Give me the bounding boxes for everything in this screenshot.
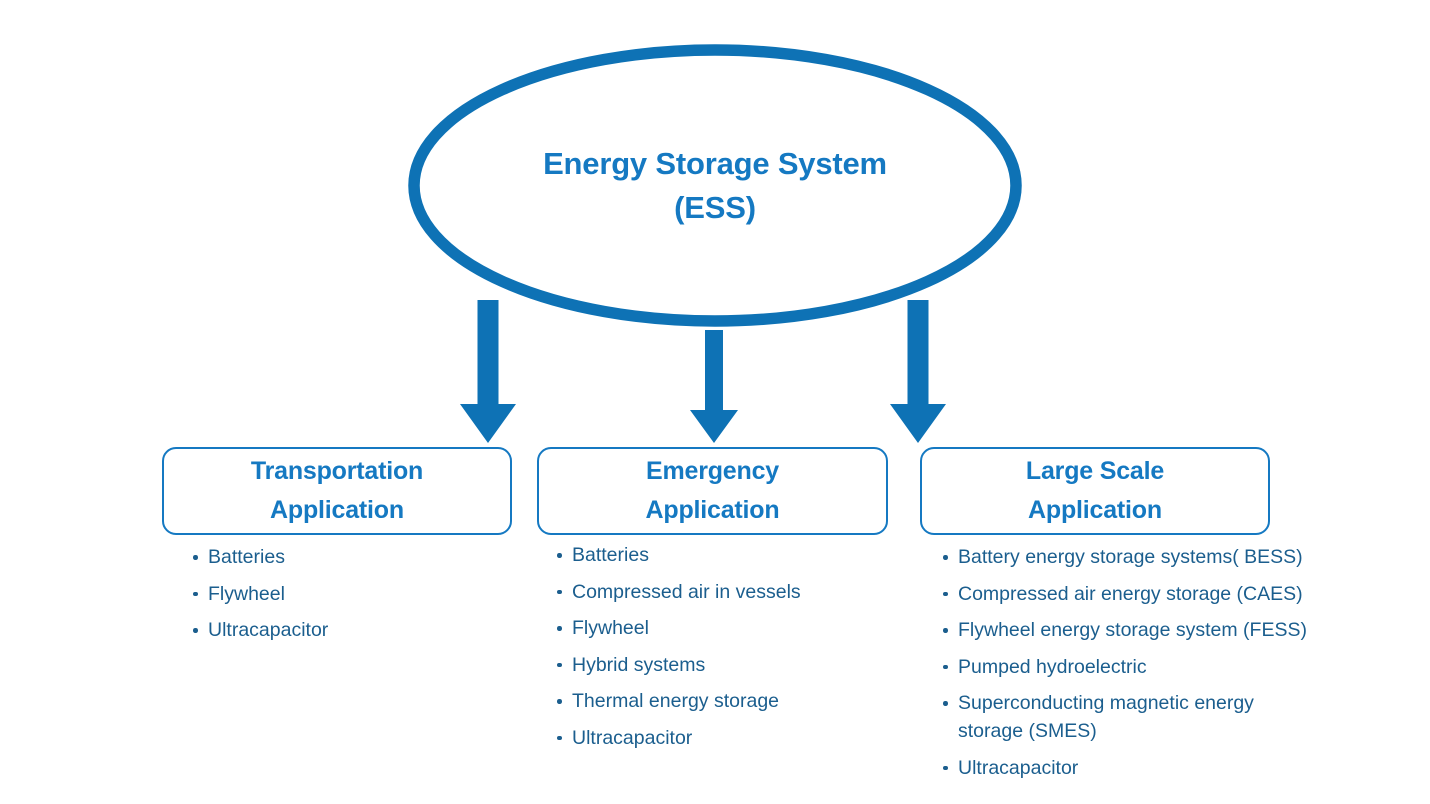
- list-item-label: Ultracapacitor: [572, 727, 692, 749]
- category-title-transportation: Transportation Application: [251, 452, 423, 530]
- category-title-line2: Application: [646, 491, 780, 530]
- list-item-label: Hybrid systems: [572, 654, 705, 676]
- list-item: Hybrid systems: [556, 651, 886, 679]
- category-title-line2: Application: [1026, 491, 1164, 530]
- root-node-label: Energy Storage System (ESS): [408, 141, 1022, 229]
- list-item-label: Superconducting magnetic energy storage …: [958, 692, 1254, 742]
- arrow-to-large-scale-icon: [886, 300, 950, 446]
- list-item: Batteries: [556, 541, 886, 569]
- category-title-emergency: Emergency Application: [646, 452, 780, 530]
- category-title-line1: Large Scale: [1026, 457, 1164, 485]
- list-item-label: Compressed air energy storage (CAES): [958, 583, 1303, 605]
- list-item-label: Flywheel: [208, 583, 285, 605]
- diagram-canvas: Energy Storage System (ESS) Transportati…: [0, 0, 1430, 804]
- list-item-label: Batteries: [572, 544, 649, 566]
- list-item: Batteries: [192, 543, 512, 571]
- category-title-line1: Emergency: [646, 457, 779, 485]
- list-item: Battery energy storage systems( BESS): [942, 543, 1308, 571]
- list-item: Thermal energy storage: [556, 687, 886, 715]
- category-title-line1: Transportation: [251, 457, 423, 485]
- list-item: Flywheel: [556, 614, 886, 642]
- category-title-line2: Application: [251, 491, 423, 530]
- category-box-large-scale[interactable]: Large Scale Application: [920, 447, 1270, 535]
- list-item: Flywheel energy storage system (FESS): [942, 616, 1308, 644]
- list-item: Pumped hydroelectric: [942, 653, 1308, 681]
- list-item: Compressed air energy storage (CAES): [942, 580, 1308, 608]
- root-node-label-line1: Energy Storage System: [543, 145, 887, 180]
- list-item-label: Ultracapacitor: [958, 757, 1078, 779]
- list-item-label: Flywheel: [572, 617, 649, 639]
- list-item-label: Flywheel energy storage system (FESS): [958, 619, 1307, 641]
- list-item-label: Thermal energy storage: [572, 690, 779, 712]
- category-list-transportation: Batteries Flywheel Ultracapacitor: [192, 543, 512, 653]
- list-item: Ultracapacitor: [192, 616, 512, 644]
- category-box-emergency[interactable]: Emergency Application: [537, 447, 888, 535]
- category-title-large-scale: Large Scale Application: [1026, 452, 1164, 530]
- category-list-emergency: Batteries Compressed air in vessels Flyw…: [556, 541, 886, 760]
- arrow-to-emergency-icon: [686, 330, 742, 446]
- list-item: Ultracapacitor: [556, 724, 886, 752]
- list-item-label: Pumped hydroelectric: [958, 656, 1147, 678]
- root-node-energy-storage-system: Energy Storage System (ESS): [408, 44, 1022, 327]
- list-item-label: Batteries: [208, 546, 285, 568]
- list-item: Ultracapacitor: [942, 754, 1308, 782]
- category-box-transportation[interactable]: Transportation Application: [162, 447, 512, 535]
- list-item-label: Compressed air in vessels: [572, 581, 801, 603]
- list-item-label: Ultracapacitor: [208, 619, 328, 641]
- list-item: Flywheel: [192, 580, 512, 608]
- list-item: Compressed air in vessels: [556, 578, 886, 606]
- category-list-large-scale: Battery energy storage systems( BESS) Co…: [942, 543, 1308, 790]
- arrow-to-transportation-icon: [456, 300, 520, 446]
- root-node-label-line2: (ESS): [468, 186, 962, 230]
- list-item-label: Battery energy storage systems( BESS): [958, 546, 1303, 568]
- list-item: Superconducting magnetic energy storage …: [942, 689, 1308, 745]
